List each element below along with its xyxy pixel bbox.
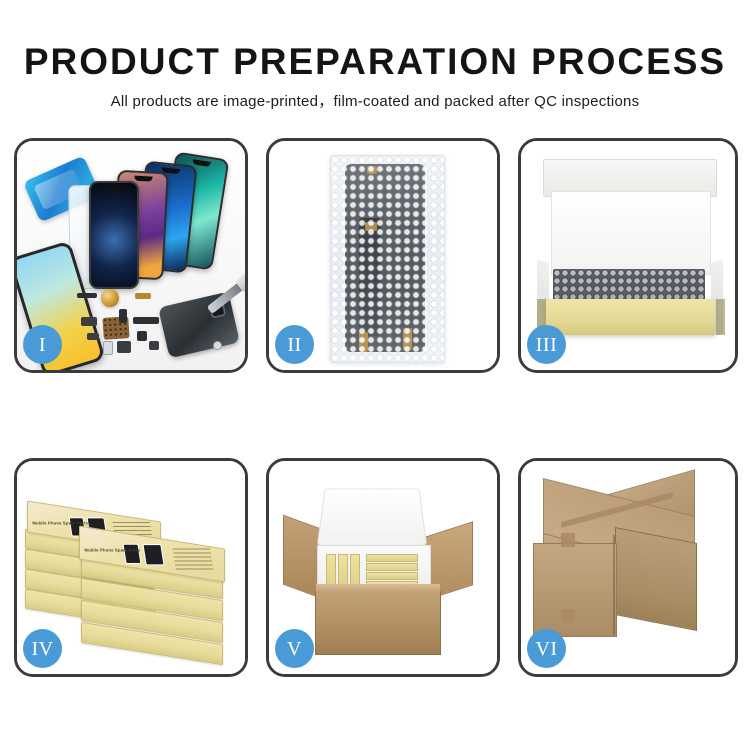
process-step-2[interactable]: II	[266, 138, 500, 373]
foam-cooler-lid	[317, 489, 428, 546]
process-step-1[interactable]: I	[14, 138, 248, 373]
foam-liner	[551, 191, 711, 275]
process-step-6[interactable]: VI	[518, 458, 738, 677]
screw-part	[213, 341, 222, 350]
process-step-4[interactable]: Mobile Phone Spare Parts Mobile Phone Sp…	[14, 458, 248, 677]
sim-tray-part	[103, 341, 113, 355]
carton-corner-seam	[613, 535, 615, 635]
process-step-3[interactable]: III	[518, 138, 738, 373]
box-end-right	[716, 299, 725, 335]
bubble-texture-overlay	[331, 156, 444, 362]
bubble-wrapped-contents	[553, 269, 705, 301]
camera-part	[81, 317, 97, 326]
bracket-part	[117, 341, 131, 353]
vibrator-part	[119, 309, 127, 323]
process-step-grid: I II	[0, 0, 750, 750]
connector-part	[135, 293, 151, 299]
step-5-numeral-badge: V	[275, 629, 314, 668]
inner-box-horizontal	[366, 554, 418, 562]
inner-box-horizontal	[366, 563, 418, 571]
carton-tape-upper	[561, 533, 575, 547]
flex-cable-part	[133, 317, 159, 324]
carton-body	[315, 591, 441, 655]
carton-tape-lower	[561, 609, 575, 623]
carton-front-face	[533, 543, 617, 637]
product-preparation-infographic: PRODUCT PREPARATION PROCESS All products…	[0, 0, 750, 750]
phone-notch-icon	[192, 159, 211, 167]
ic-chip-part	[137, 331, 147, 341]
phone-notch-icon	[134, 176, 152, 182]
step-4-numeral-badge: IV	[23, 629, 62, 668]
box-window-phone	[142, 544, 164, 565]
step-1-numeral-badge: I	[23, 325, 62, 364]
speaker-part	[87, 333, 99, 340]
step-6-numeral-badge: VI	[527, 629, 566, 668]
flex-part	[77, 293, 97, 298]
inner-box-horizontal	[366, 572, 418, 580]
button-part	[149, 341, 159, 350]
step-2-numeral-badge: II	[275, 325, 314, 364]
step-3-numeral-badge: III	[527, 325, 566, 364]
phone-dark-front	[89, 181, 139, 289]
copper-coil-part	[101, 289, 119, 307]
box-label-text: Mobile Phone Spare Parts	[84, 548, 141, 553]
phone-notch-icon	[105, 186, 123, 191]
box-front-panel	[545, 299, 715, 335]
box-spec-lines	[173, 548, 214, 570]
bubble-wrap-bag	[330, 155, 445, 363]
process-step-5[interactable]: V	[266, 458, 500, 677]
carton-right-face	[615, 527, 697, 631]
